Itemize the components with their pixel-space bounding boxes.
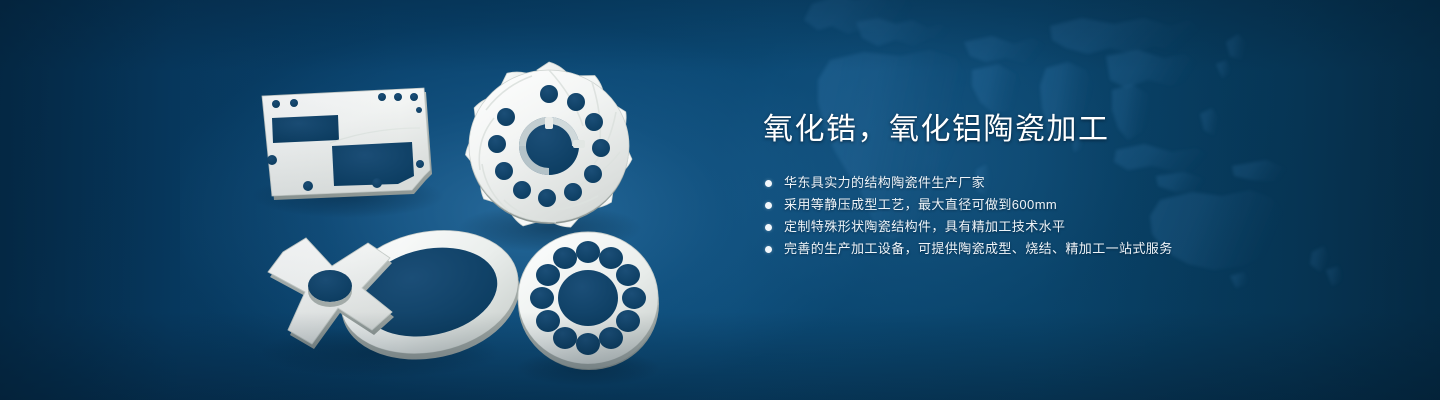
- list-item: 采用等静压成型工艺，最大直径可做到600mm: [765, 194, 1383, 216]
- bullet-dot-icon: [765, 224, 772, 231]
- feature-text: 采用等静压成型工艺，最大直径可做到600mm: [784, 194, 1057, 216]
- list-item: 定制特殊形状陶瓷结构件，具有精加工技术水平: [765, 216, 1383, 238]
- hero-banner: 氧化锆，氧化铝陶瓷加工 华东具实力的结构陶瓷件生产厂家 采用等静压成型工艺，最大…: [0, 0, 1440, 400]
- bullet-dot-icon: [765, 202, 772, 209]
- list-item: 完善的生产加工设备，可提供陶瓷成型、烧结、精加工一站式服务: [765, 238, 1383, 260]
- list-item: 华东具实力的结构陶瓷件生产厂家: [765, 172, 1383, 194]
- feature-text: 华东具实力的结构陶瓷件生产厂家: [784, 172, 985, 194]
- feature-list: 华东具实力的结构陶瓷件生产厂家 采用等静压成型工艺，最大直径可做到600mm 定…: [763, 172, 1383, 260]
- banner-copy: 氧化锆，氧化铝陶瓷加工 华东具实力的结构陶瓷件生产厂家 采用等静压成型工艺，最大…: [763, 110, 1383, 276]
- page-title: 氧化锆，氧化铝陶瓷加工: [763, 110, 1383, 150]
- feature-text: 定制特殊形状陶瓷结构件，具有精加工技术水平: [784, 216, 1065, 238]
- bullet-dot-icon: [765, 180, 772, 187]
- bullet-dot-icon: [765, 246, 772, 253]
- feature-text: 完善的生产加工设备，可提供陶瓷成型、烧结、精加工一站式服务: [784, 238, 1173, 260]
